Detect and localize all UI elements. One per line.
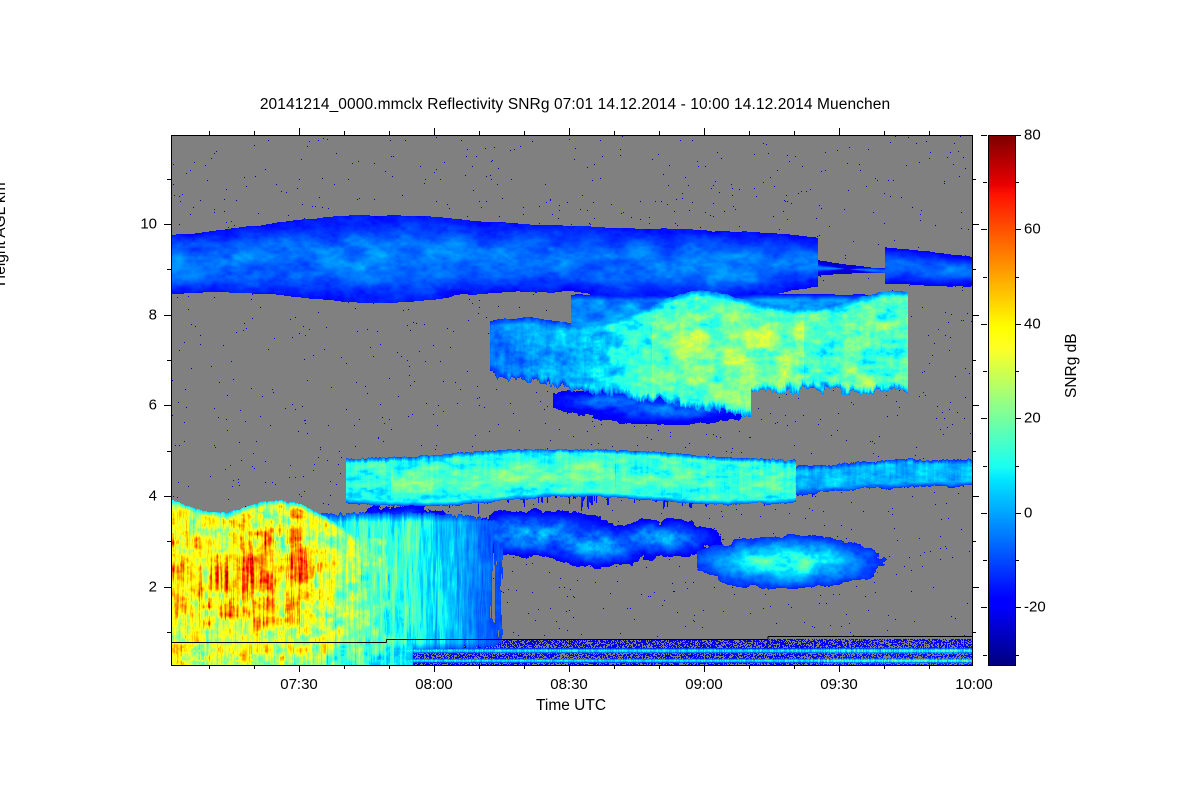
axis-tick [884, 665, 885, 669]
axis-tick [209, 131, 210, 135]
y-tick-label: 10 [0, 216, 157, 233]
reflectivity-heatmap [172, 136, 972, 665]
axis-tick [167, 632, 171, 633]
axis-tick [389, 131, 390, 135]
colorbar-tick-label: 40 [1024, 315, 1041, 332]
axis-tick [972, 541, 976, 542]
axis-tick [209, 665, 210, 669]
axis-tick [983, 466, 987, 467]
colorbar-tick-label: 0 [1024, 504, 1032, 521]
y-tick-label: 8 [0, 306, 157, 323]
axis-tick [983, 560, 987, 561]
y-axis-label: Height AGL km [0, 182, 10, 286]
axis-tick [659, 665, 660, 669]
axis-tick [1015, 466, 1019, 467]
y-tick-label: 4 [0, 488, 157, 505]
x-tick-label: 09:00 [685, 676, 723, 693]
colorbar-gradient [989, 136, 1015, 665]
axis-tick [929, 131, 930, 135]
axis-tick [164, 405, 171, 406]
colorbar [988, 135, 1016, 666]
axis-tick [1015, 418, 1021, 419]
colorbar-tick-label: 60 [1024, 221, 1041, 238]
y-tick-label: 2 [0, 578, 157, 595]
axis-tick [167, 269, 171, 270]
x-tick-label: 07:30 [280, 676, 318, 693]
axis-tick [1015, 655, 1019, 656]
axis-tick [254, 665, 255, 669]
axis-tick [569, 665, 570, 672]
axis-tick [981, 513, 987, 514]
axis-tick [972, 224, 979, 225]
axis-tick [1015, 513, 1021, 514]
colorbar-label: SNRg dB [1063, 333, 1081, 398]
axis-tick [884, 131, 885, 135]
axis-tick [981, 135, 987, 136]
axis-tick [704, 128, 705, 135]
axis-tick [614, 131, 615, 135]
axis-tick [479, 665, 480, 669]
axis-tick [981, 607, 987, 608]
axis-tick [983, 182, 987, 183]
axis-tick [839, 665, 840, 672]
axis-tick [299, 128, 300, 135]
x-axis-label: Time UTC [171, 697, 971, 715]
axis-tick [929, 665, 930, 669]
axis-tick [983, 277, 987, 278]
axis-tick [1015, 182, 1019, 183]
axis-tick [794, 665, 795, 669]
axis-tick [434, 128, 435, 135]
axis-tick [1015, 371, 1019, 372]
axis-tick [981, 418, 987, 419]
axis-tick [1015, 277, 1019, 278]
axis-tick [344, 665, 345, 669]
axis-tick [299, 665, 300, 672]
axis-tick [972, 451, 976, 452]
axis-tick [981, 229, 987, 230]
axis-tick [1015, 229, 1021, 230]
axis-tick [1015, 135, 1021, 136]
axis-tick [839, 128, 840, 135]
x-tick-label: 08:30 [550, 676, 588, 693]
axis-tick [524, 131, 525, 135]
axis-tick [389, 665, 390, 669]
axis-tick [164, 587, 171, 588]
axis-tick [749, 665, 750, 669]
axis-tick [972, 587, 979, 588]
axis-tick [794, 131, 795, 135]
axis-tick [1015, 607, 1021, 608]
colorbar-tick-label: 80 [1024, 127, 1041, 144]
colorbar-tick-label: -20 [1024, 599, 1046, 616]
colorbar-tick-label: 20 [1024, 410, 1041, 427]
x-tick-label: 08:00 [415, 676, 453, 693]
axis-tick [972, 179, 976, 180]
axis-tick [972, 315, 979, 316]
radar-reflectivity-figure: 20141214_0000.mmclx Reflectivity SNRg 07… [0, 0, 1200, 800]
axis-tick [569, 128, 570, 135]
plot-area [171, 135, 973, 666]
axis-tick [167, 541, 171, 542]
axis-tick [972, 360, 976, 361]
axis-tick [524, 665, 525, 669]
axis-tick [1015, 560, 1019, 561]
axis-tick [167, 360, 171, 361]
axis-tick [164, 496, 171, 497]
axis-tick [167, 179, 171, 180]
axis-tick [983, 371, 987, 372]
y-tick-label: 6 [0, 397, 157, 414]
axis-tick [164, 315, 171, 316]
x-tick-label: 09:30 [820, 676, 858, 693]
axis-tick [981, 324, 987, 325]
axis-tick [1015, 324, 1021, 325]
axis-tick [164, 224, 171, 225]
axis-tick [659, 131, 660, 135]
axis-tick [614, 665, 615, 669]
axis-tick [983, 655, 987, 656]
axis-tick [972, 269, 976, 270]
axis-tick [254, 131, 255, 135]
axis-tick [479, 131, 480, 135]
axis-tick [972, 632, 976, 633]
axis-tick [434, 665, 435, 672]
axis-tick [749, 131, 750, 135]
axis-tick [704, 665, 705, 672]
axis-tick [344, 131, 345, 135]
axis-tick [167, 451, 171, 452]
x-tick-label: 10:00 [955, 676, 993, 693]
axis-tick [972, 496, 979, 497]
axis-tick [972, 405, 979, 406]
plot-title: 20141214_0000.mmclx Reflectivity SNRg 07… [0, 96, 1150, 114]
